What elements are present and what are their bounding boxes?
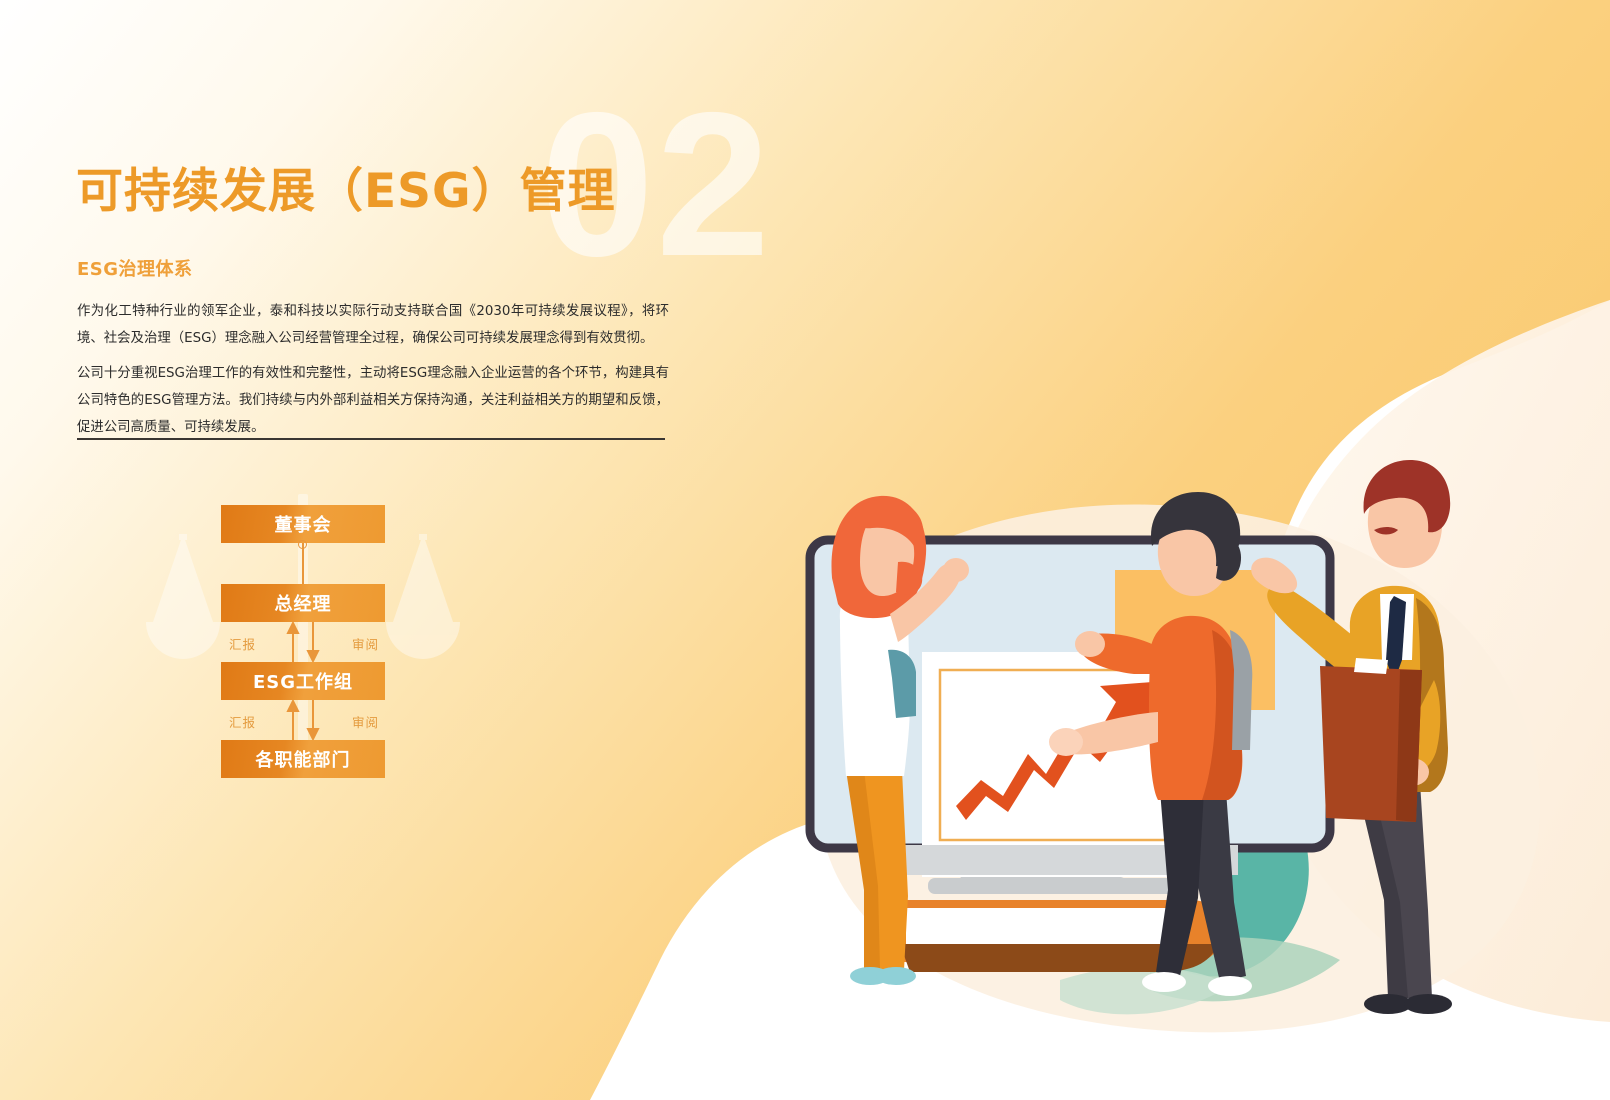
arrow-label-review-1: 审阅 [352, 634, 379, 653]
orgchart-node-esg-workgroup: ESG工作组 [221, 662, 385, 700]
report-page: 02 可持续发展（ESG）管理 ESG治理体系 作为化工特种行业的领军企业，泰和… [0, 0, 1610, 1100]
esg-governance-orgchart: 董事会 总经理 汇报 审阅 ESG工作组 汇报 [140, 472, 470, 812]
team-growth-chart-illustration [760, 330, 1610, 1030]
arrow-label-review-2: 审阅 [352, 712, 379, 731]
orgchart-arrows-1: 汇报 审阅 [221, 622, 385, 662]
section-subtitle: ESG治理体系 [77, 255, 193, 281]
body-paragraph-2: 公司十分重视ESG治理工作的有效性和完整性，主动将ESG理念融入企业运营的各个环… [77, 361, 669, 441]
page-title: 可持续发展（ESG）管理 [76, 164, 616, 220]
section-divider [77, 438, 665, 440]
body-paragraph-1: 作为化工特种行业的领军企业，泰和科技以实际行动支持联合国《2030年可持续发展议… [77, 299, 669, 353]
orgchart-node-board: 董事会 [221, 505, 385, 543]
orgchart-arrows-2: 汇报 审阅 [221, 700, 385, 740]
orgchart-node-general-manager: 总经理 [221, 584, 385, 622]
connector-line [302, 543, 304, 584]
orgchart-node-functional-departments: 各职能部门 [221, 740, 385, 778]
